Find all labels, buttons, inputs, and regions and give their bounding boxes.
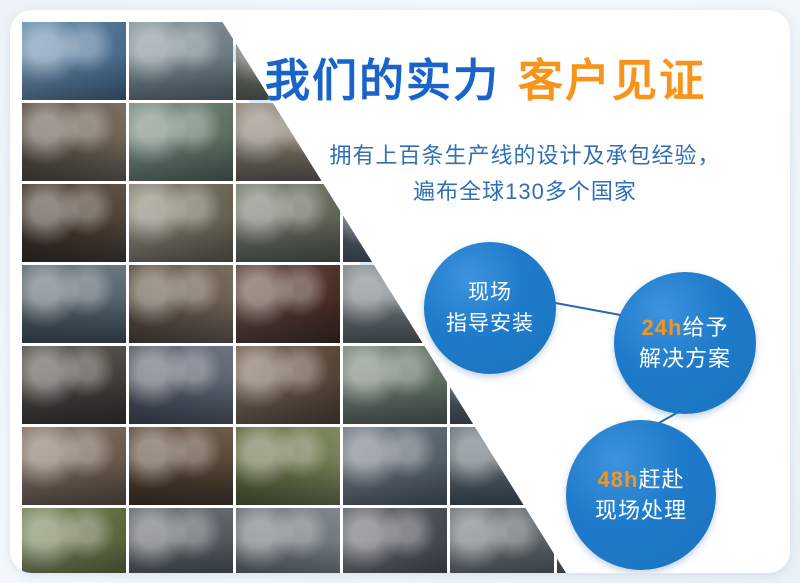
photo-cell [129,184,233,262]
photo-cell [129,427,233,505]
photo-cell [236,346,340,424]
bubble-on-site-installation[interactable]: 现场 指导安装 [424,242,556,374]
title-orange: 客户见证 [518,55,706,106]
photo-cell [129,508,233,573]
title-blue: 我们的实力 [265,55,500,106]
photo-cell [22,508,126,573]
photo-thumbnail [236,346,340,424]
photo-cell [236,427,340,505]
photo-cell [450,508,554,573]
bubble3-highlight: 48h [598,467,639,492]
photo-thumbnail [343,427,447,505]
subtitle: 拥有上百条生产线的设计及承包经验， 遍布全球130多个国家 [265,138,785,210]
photo-thumbnail [129,22,233,100]
photo-cell [22,427,126,505]
photo-cell [22,22,126,100]
photo-cell [22,346,126,424]
photo-cell [236,265,340,343]
photo-thumbnail [129,103,233,181]
photo-thumbnail [450,508,554,573]
photo-cell [22,184,126,262]
photo-thumbnail [22,22,126,100]
photo-thumbnail [236,508,340,573]
bubble2-line2: 解决方案 [639,343,731,374]
subtitle-line-1: 拥有上百条生产线的设计及承包经验， [265,138,785,174]
bubble2-highlight: 24h [642,315,683,340]
bubble-24h-response[interactable]: 24h给予 解决方案 [614,272,756,414]
bubble2-line1: 24h给予 [642,312,729,343]
bubble1-line1: 现场 [468,277,512,308]
photo-cell [450,427,554,505]
bubble3-line1: 48h赶赴 [598,464,685,495]
photo-thumbnail [22,346,126,424]
photo-thumbnail [236,265,340,343]
photo-cell [22,265,126,343]
photo-thumbnail [450,427,554,505]
photo-cell [129,265,233,343]
photo-cell [343,508,447,573]
photo-cell [129,346,233,424]
photo-thumbnail [343,508,447,573]
photo-thumbnail [129,265,233,343]
photo-thumbnail [22,265,126,343]
photo-cell [129,103,233,181]
page-title: 我们的实力客户见证 [265,58,785,103]
bubble3-line2: 现场处理 [595,495,687,526]
photo-cell [129,22,233,100]
bubble3-line1-rest: 赶赴 [638,467,684,492]
photo-thumbnail [129,427,233,505]
photo-thumbnail [129,184,233,262]
photo-thumbnail [22,427,126,505]
bubble2-line1-rest: 给予 [682,315,728,340]
photo-cell [236,508,340,573]
photo-thumbnail [343,346,447,424]
photo-thumbnail [22,184,126,262]
photo-thumbnail [22,508,126,573]
photo-thumbnail [236,427,340,505]
photo-thumbnail [129,346,233,424]
photo-thumbnail [22,103,126,181]
subtitle-line-2: 遍布全球130多个国家 [265,174,785,210]
bubble-48h-dispatch[interactable]: 48h赶赴 现场处理 [566,420,716,570]
bubble1-line2: 指导安装 [446,308,534,339]
photo-cell [343,346,447,424]
photo-thumbnail [129,508,233,573]
photo-cell [22,103,126,181]
photo-cell [343,427,447,505]
promo-banner: 我们的实力客户见证 拥有上百条生产线的设计及承包经验， 遍布全球130多个国家 … [0,0,800,583]
banner-card: 我们的实力客户见证 拥有上百条生产线的设计及承包经验， 遍布全球130多个国家 … [10,10,790,573]
